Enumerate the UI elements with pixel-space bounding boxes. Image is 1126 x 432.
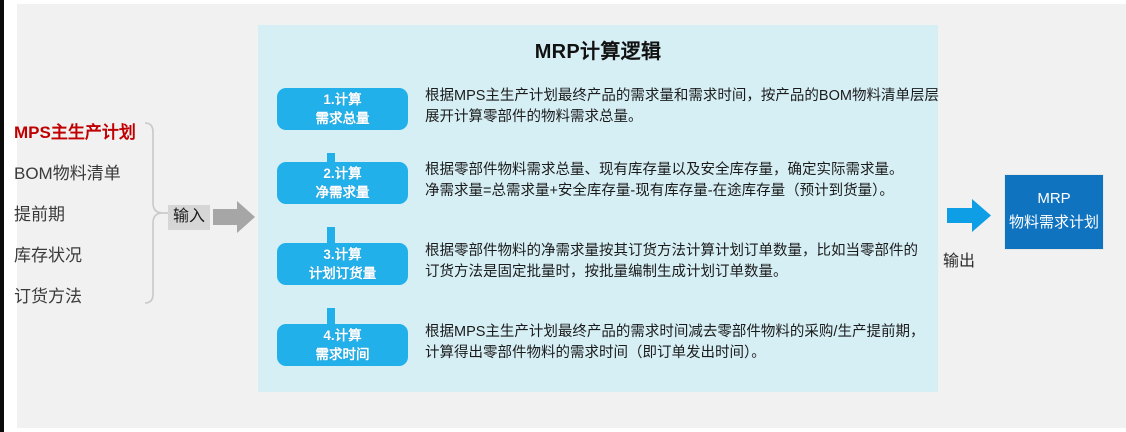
- input-item-bom: BOM物料清单: [14, 153, 150, 194]
- step-desc-3-line1: 根据零部件物料的净需求量按其订货方法计算计划订单数量，比如当零部件的: [425, 241, 930, 262]
- input-item-order-method: 订货方法: [14, 276, 150, 317]
- step-chip-2[interactable]: 2.计算 净需求量: [277, 162, 408, 204]
- step-chip-1-line2: 需求总量: [277, 109, 408, 128]
- output-box-mrp[interactable]: MRP 物料需求计划: [1004, 174, 1104, 250]
- step-chip-3-line2: 计划订货量: [277, 264, 408, 283]
- step-desc-1-line1: 根据MPS主生产计划最终产品的需求量和需求时间，按产品的BOM物料清单层层: [425, 86, 930, 107]
- step-desc-1: 根据MPS主生产计划最终产品的需求量和需求时间，按产品的BOM物料清单层层 展开…: [425, 86, 930, 128]
- step-desc-4-line2: 计算得出零部件物料的需求时间（即订单发出时间）。: [425, 343, 930, 364]
- output-connector-label: 输出: [943, 247, 975, 271]
- output-box-line2: 物料需求计划: [1005, 211, 1103, 235]
- input-list: MPS主生产计划 BOM物料清单 提前期 库存状况 订货方法: [14, 112, 150, 317]
- step-desc-1-line2: 展开计算零部件的物料需求总量。: [425, 107, 930, 128]
- curly-brace-icon: [143, 121, 169, 305]
- slide-top-gutter: [17, 0, 1126, 4]
- mrp-logic-panel: MRP计算逻辑 1.计算 需求总量 根据MPS主生产计划最终产品的需求量和需求时…: [258, 25, 938, 392]
- input-item-inventory: 库存状况: [14, 235, 150, 276]
- step-row-4: 4.计算 需求时间 根据MPS主生产计划最终产品的需求时间减去零部件物料的采购/…: [277, 324, 927, 366]
- input-connector-label: 输入: [168, 205, 210, 230]
- right-arrow-icon-output: [947, 199, 991, 232]
- step-desc-2-line1: 根据零部件物料需求总量、现有库存量以及安全库存量，确定实际需求量。: [425, 160, 930, 181]
- step-desc-3-line2: 订货方法是固定批量时，按批量编制生成计划订单数量。: [425, 262, 930, 283]
- input-item-mps: MPS主生产计划: [14, 112, 150, 153]
- step-chip-2-line1: 2.计算: [277, 164, 408, 183]
- step-chip-4[interactable]: 4.计算 需求时间: [277, 324, 408, 366]
- slide-bottom-gutter: [17, 428, 1126, 432]
- step-desc-4-line1: 根据MPS主生产计划最终产品的需求时间减去零部件物料的采购/生产提前期，: [425, 322, 930, 343]
- step-row-3: 3.计算 计划订货量 根据零部件物料的净需求量按其订货方法计算计划订单数量，比如…: [277, 243, 927, 285]
- diagram-canvas: MPS主生产计划 BOM物料清单 提前期 库存状况 订货方法 输入 MRP计算逻…: [0, 0, 1126, 432]
- step-chip-2-line2: 净需求量: [277, 183, 408, 202]
- input-item-leadtime: 提前期: [14, 194, 150, 235]
- step-desc-3: 根据零部件物料的净需求量按其订货方法计算计划订单数量，比如当零部件的 订货方法是…: [425, 241, 930, 283]
- step-chip-4-line1: 4.计算: [277, 326, 408, 345]
- step-row-2: 2.计算 净需求量 根据零部件物料需求总量、现有库存量以及安全库存量，确定实际需…: [277, 162, 927, 204]
- step-desc-2: 根据零部件物料需求总量、现有库存量以及安全库存量，确定实际需求量。 净需求量=总…: [425, 160, 930, 202]
- step-row-1: 1.计算 需求总量 根据MPS主生产计划最终产品的需求量和需求时间，按产品的BO…: [277, 88, 927, 130]
- right-arrow-icon-input: [213, 200, 255, 234]
- step-desc-2-line2: 净需求量=总需求量+安全库存量-现有库存量-在途库存量（预计到货量）。: [425, 181, 930, 202]
- step-chip-1[interactable]: 1.计算 需求总量: [277, 88, 408, 130]
- step-desc-4: 根据MPS主生产计划最终产品的需求时间减去零部件物料的采购/生产提前期， 计算得…: [425, 322, 930, 364]
- panel-title: MRP计算逻辑: [258, 35, 938, 64]
- step-chip-3-line1: 3.计算: [277, 245, 408, 264]
- step-chip-4-line2: 需求时间: [277, 345, 408, 364]
- step-chip-1-line1: 1.计算: [277, 90, 408, 109]
- output-box-line1: MRP: [1005, 187, 1103, 211]
- step-chip-3[interactable]: 3.计算 计划订货量: [277, 243, 408, 285]
